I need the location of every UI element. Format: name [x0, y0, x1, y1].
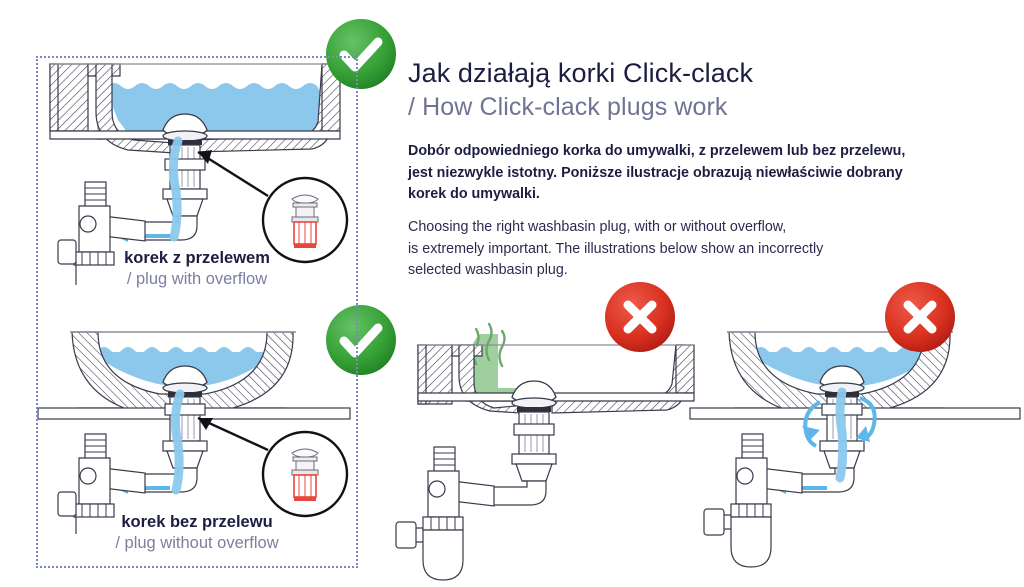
- illustration-basin-with-overflow-wrong: [396, 324, 694, 580]
- caption-without-overflow-pl: korek bez przelewu: [36, 512, 358, 533]
- infographic-canvas: Jak działają korki Click-clack / How Cli…: [0, 0, 1024, 587]
- illustration-basin-no-overflow-correct: [38, 332, 350, 534]
- badge-check-mid-left: [326, 305, 396, 375]
- body-en-line-1: Choosing the right washbasin plug, with …: [408, 217, 1008, 239]
- page-title-pl: Jak działają korki Click-clack: [408, 58, 1008, 90]
- body-en-line-3: selected washbasin plug.: [408, 260, 1008, 282]
- badge-cross-right: [885, 282, 955, 352]
- caption-with-overflow-pl: korek z przelewem: [36, 248, 358, 269]
- caption-with-overflow-en: / plug with overflow: [36, 269, 358, 290]
- caption-without-overflow-en: / plug without overflow: [36, 533, 358, 554]
- siphon-assembly: [396, 447, 494, 580]
- caption-without-overflow: korek bez przelewu / plug without overfl…: [36, 512, 358, 555]
- callout-plug-without-overflow: [198, 418, 347, 516]
- body-pl-line-2: jest niezwykle istotny. Poniższe ilustra…: [408, 163, 1008, 185]
- page-title-en: / How Click-clack plugs work: [408, 92, 1008, 122]
- body-pl-line-3: korek do umywalki.: [408, 184, 1008, 206]
- body-paragraph-pl: Dobór odpowiedniego korka do umywalki, z…: [408, 141, 1008, 206]
- body-en-line-2: is extremely important. The illustration…: [408, 239, 1008, 261]
- siphon-assembly: [704, 434, 802, 567]
- callout-plug-with-overflow: [198, 150, 347, 262]
- illustration-basin-no-overflow-wrong: [690, 332, 1020, 567]
- body-pl-line-1: Dobór odpowiedniego korka do umywalki, z…: [408, 141, 1008, 163]
- caption-with-overflow: korek z przelewem / plug with overflow: [36, 248, 358, 291]
- text-column: Jak działają korki Click-clack / How Cli…: [408, 58, 1008, 282]
- badge-cross-center: [605, 282, 675, 352]
- body-paragraph-en: Choosing the right washbasin plug, with …: [408, 217, 1008, 282]
- badge-check-top-left: [326, 19, 396, 89]
